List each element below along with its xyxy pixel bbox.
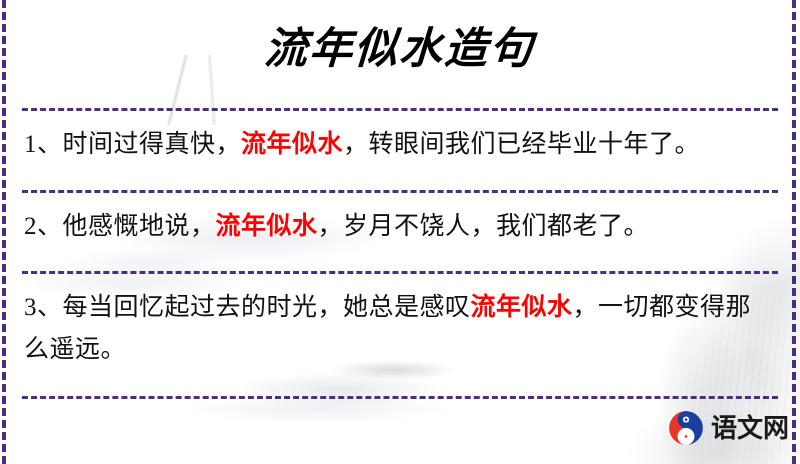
content-area: 流年似水造句 1、时间过得真快，流年似水，转眼间我们已经毕业十年了。 2、他感慨… <box>0 0 800 464</box>
site-logo[interactable]: 语文网 <box>668 410 789 446</box>
example-sentence-1: 1、时间过得真快，流年似水，转眼间我们已经毕业十年了。 <box>22 111 778 166</box>
site-logo-text: 语文网 <box>711 415 789 441</box>
yinyang-logo-icon <box>668 410 704 446</box>
sentence-1-after: ，转眼间我们已经毕业十年了。 <box>343 131 700 158</box>
sentence-2-after: ，岁月不饶人，我们都老了。 <box>318 213 650 240</box>
sentence-2-highlight: 流年似水 <box>216 213 318 240</box>
sentence-3-highlight: 流年似水 <box>471 294 573 321</box>
example-sentence-2: 2、他感慨地说，流年似水，岁月不饶人，我们都老了。 <box>22 193 778 248</box>
example-sentence-3: 3、每当回忆起过去的时光，她总是感叹流年似水，一切都变得那么遥远。 <box>22 274 778 371</box>
sentence-2-before: 2、他感慨地说， <box>24 213 216 240</box>
page-title: 流年似水造句 <box>20 0 780 71</box>
sentence-1-highlight: 流年似水 <box>241 131 343 158</box>
sentence-3-before: 3、每当回忆起过去的时光，她总是感叹 <box>24 294 471 321</box>
page-canvas: 流年似水造句 1、时间过得真快，流年似水，转眼间我们已经毕业十年了。 2、他感慨… <box>0 0 800 464</box>
sentence-1-before: 1、时间过得真快， <box>24 131 241 158</box>
dashed-separator-4 <box>22 396 778 399</box>
